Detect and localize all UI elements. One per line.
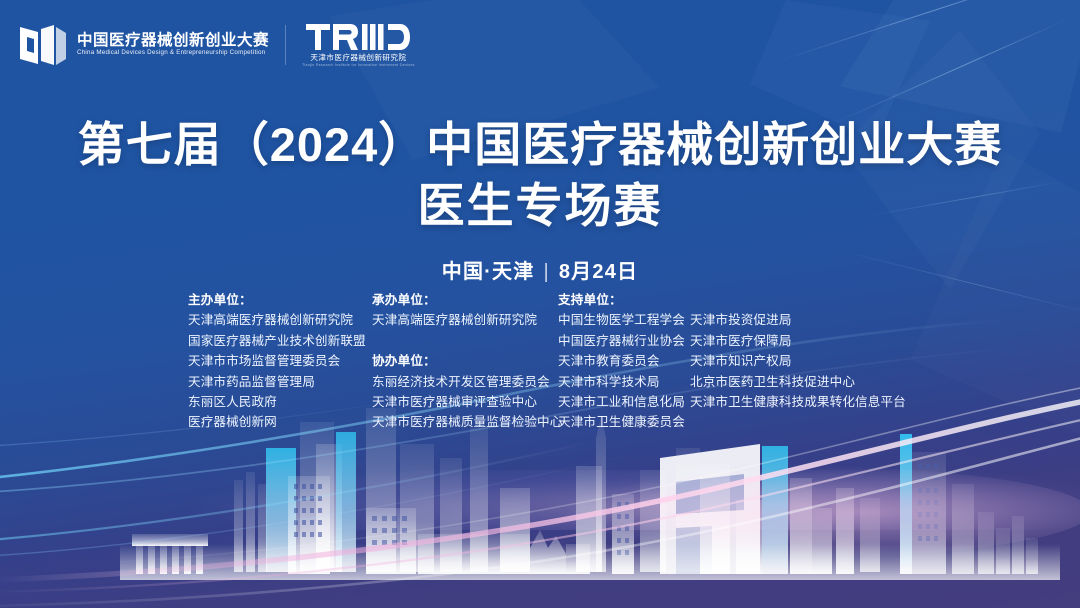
poster-title-line1: 第七届（2024）中国医疗器械创新创业大赛: [0, 118, 1080, 173]
organizer-item: 国家医疗器械产业技术创新联盟: [188, 331, 372, 351]
supporter-item: 中国医疗器械行业协会: [558, 331, 690, 351]
supporter-item: 天津市卫生健康科技成果转化信息平台: [690, 392, 900, 412]
coorganizer-item: 东丽经济技术开发区管理委员会: [372, 372, 558, 392]
supporter-item: 天津市工业和信息化局: [558, 392, 690, 412]
undertaker-item: 天津高端医疗器械创新研究院: [372, 310, 558, 330]
organizer-item: 东丽区人民政府: [188, 392, 372, 412]
supporter-heading: 支持单位：: [558, 290, 690, 310]
horizon-glow: [0, 470, 1080, 530]
cmdc-logo-text: 中国医疗器械创新创业大赛 China Medical Devices Desig…: [77, 33, 269, 57]
organizer-item: 医疗器械创新网: [188, 412, 372, 432]
cmdc-logo-cn: 中国医疗器械创新创业大赛: [77, 33, 269, 49]
background-hairline: [780, 0, 1066, 61]
logo-bar: 中国医疗器械创新创业大赛 China Medical Devices Desig…: [18, 22, 415, 67]
poster-title-line2: 医生专场赛: [0, 177, 1080, 234]
supporter-item: 天津市科学技术局: [558, 372, 690, 392]
event-date: 8月24日: [559, 261, 638, 283]
supporter-column-b: 天津市投资促进局 天津市医疗保障局 天津市知识产权局 北京市医药卫生科技促进中心…: [690, 290, 900, 412]
supporter-item: 天津市投资促进局: [690, 310, 900, 330]
supporter-item: 中国生物医学工程学会: [558, 310, 690, 330]
supporter-item: 天津市卫生健康委员会: [558, 412, 690, 432]
cmdc-logo-en: China Medical Devices Design & Entrepren…: [77, 50, 269, 57]
organizer-column: 主办单位： 天津高端医疗器械创新研究院 国家医疗器械产业技术创新联盟 天津市市场…: [188, 290, 372, 433]
column-spacer: [372, 331, 558, 351]
organizer-item: 天津高端医疗器械创新研究院: [188, 310, 372, 330]
event-location: 中国·天津: [442, 261, 535, 283]
supporter-item: 北京市医药卫生科技促进中心: [690, 372, 900, 392]
triid-logo-en: Tianjin Research Institute for Innovativ…: [302, 64, 415, 68]
organizer-item: 天津市药品监督管理局: [188, 372, 372, 392]
triid-logo: 天津市医疗器械创新研究院 Tianjin Research Institute …: [302, 22, 415, 67]
open-door-logo-mark-icon: [18, 23, 68, 67]
logo-divider: [285, 25, 286, 65]
supporter-column-a: 支持单位： 中国生物医学工程学会 中国医疗器械行业协会 天津市教育委员会 天津市…: [558, 290, 690, 433]
supporter-item: 天津市教育委员会: [558, 351, 690, 371]
supporter-item: 天津市知识产权局: [690, 351, 900, 371]
triid-wordmark-icon: [306, 22, 410, 52]
cmdc-logo: 中国医疗器械创新创业大赛 China Medical Devices Desig…: [18, 23, 269, 67]
triid-logo-cn: 天津市医疗器械创新研究院: [310, 54, 406, 62]
background-hairline: [840, 18, 1069, 121]
coorganizer-item: 天津市医疗器械审评查验中心: [372, 392, 558, 412]
supporter-item: 天津市医疗保障局: [690, 331, 900, 351]
column-spacer: [690, 290, 900, 310]
organizer-item: 天津市市场监督管理委员会: [188, 351, 372, 371]
poster-canvas: 中国医疗器械创新创业大赛 China Medical Devices Desig…: [0, 0, 1080, 608]
organizations-block: 主办单位： 天津高端医疗器械创新研究院 国家医疗器械产业技术创新联盟 天津市市场…: [188, 290, 900, 433]
event-meta-line: 中国·天津|8月24日: [0, 255, 1080, 284]
coorganizer-item: 天津市医疗器械质量监督检验中心: [372, 412, 558, 432]
undertaker-heading: 承办单位：: [372, 290, 558, 310]
organizer-heading: 主办单位：: [188, 290, 372, 310]
undertaker-column: 承办单位： 天津高端医疗器械创新研究院 协办单位： 东丽经济技术开发区管理委员会…: [372, 290, 558, 433]
title-block: 第七届（2024）中国医疗器械创新创业大赛 医生专场赛: [0, 118, 1080, 234]
meta-separator: |: [543, 261, 549, 284]
coorganizer-heading: 协办单位：: [372, 351, 558, 371]
